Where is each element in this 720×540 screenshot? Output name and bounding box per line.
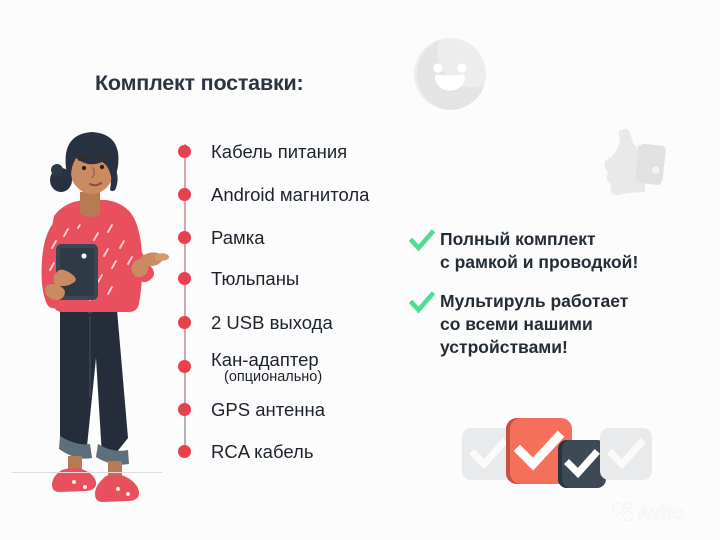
green-check-icon [409, 291, 435, 317]
floor-line [12, 472, 162, 473]
white-check-icon [558, 440, 606, 488]
list-item-label: Рамка [211, 225, 265, 250]
bullet-dot [178, 403, 191, 416]
avito-watermark: Avito [610, 498, 706, 526]
bullet-dot [178, 445, 191, 458]
list-item-sublabel: (опционально) [224, 368, 322, 386]
benefits-list: Полный комплект с рамкой и проводкой! Му… [409, 228, 709, 375]
benefit-text: Мультируль работает со всеми нашими устр… [440, 290, 628, 359]
bullet-dot [178, 316, 191, 329]
bullet-dot [178, 272, 191, 285]
green-check-icon [409, 229, 435, 255]
list-item-label: Тюльпаны [211, 266, 299, 291]
promo-canvas: Комплект поставки: [0, 0, 720, 540]
list-item-label: RCA кабель [211, 439, 313, 464]
bullet-dot [178, 231, 191, 244]
bullet-dot [178, 145, 191, 158]
list-item-label: Android магнитола [211, 182, 369, 207]
thumbs-up-icon [580, 113, 684, 217]
woman-pointing-illustration [16, 108, 176, 508]
smiley-face-icon [413, 37, 487, 111]
bullet-dot [178, 188, 191, 201]
checkbox-cards-group [462, 418, 638, 490]
benefit-row: Полный комплект с рамкой и проводкой! [409, 228, 709, 274]
benefit-row: Мультируль работает со всеми нашими устр… [409, 290, 709, 359]
bullet-dot [178, 360, 191, 373]
checkbox-card-gray-right [600, 428, 652, 480]
svg-text:Avito: Avito [637, 503, 684, 524]
list-item-label: 2 USB выхода [211, 310, 333, 335]
list-item-label: GPS антенна [211, 397, 325, 422]
white-check-icon [600, 428, 652, 480]
page-title: Комплект поставки: [95, 71, 304, 96]
list-item-label: Кабель питания [211, 139, 347, 164]
checkbox-card-navy [558, 440, 606, 488]
benefit-text: Полный комплект с рамкой и проводкой! [440, 228, 638, 274]
